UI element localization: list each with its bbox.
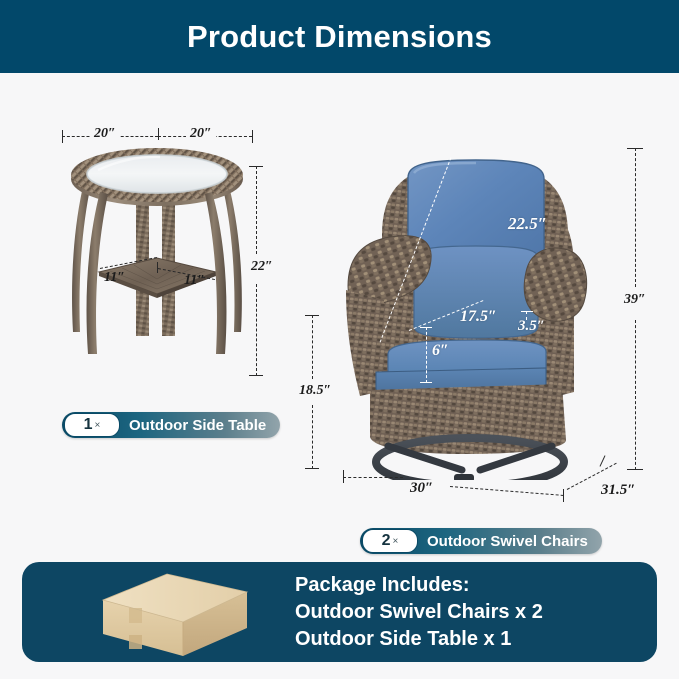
- chair-total-height-dimline-lower: [635, 320, 636, 470]
- table-shelf-tick-center: [157, 262, 158, 273]
- chair-seat-height-dimline-lower: [312, 405, 313, 469]
- package-heading: Package Includes:: [295, 572, 543, 599]
- table-height-dimline-upper: [256, 166, 257, 254]
- table-height-tick-bottom: [249, 375, 263, 376]
- swivel-chair-count: 2: [382, 532, 391, 550]
- chair-total-height-label: 39″: [622, 291, 648, 309]
- chair-seat-cushion-label: 6″: [432, 342, 449, 360]
- chair-arm-thickness-label: 3.5″: [518, 318, 545, 335]
- side-table-count: 1: [84, 416, 93, 434]
- side-table-quantity: 1 ×: [64, 413, 120, 437]
- swivel-chair-badge-label: Outdoor Swivel Chairs: [427, 533, 588, 550]
- chair-depth-label: 31.5″: [601, 482, 636, 499]
- package-line-table: Outdoor Side Table x 1: [295, 626, 543, 653]
- package-includes-text: Package Includes: Outdoor Swivel Chairs …: [295, 572, 543, 653]
- chair-total-height-dimline-upper: [635, 148, 636, 287]
- chair-total-height-tick-bottom: [627, 469, 643, 470]
- chair-width-dimline-b: [450, 486, 564, 496]
- chair-seat-cushion-dimline: [426, 327, 427, 383]
- chair-width-dimline-a: [343, 477, 403, 478]
- multiply-icon: ×: [393, 536, 399, 547]
- side-table-badge-label: Outdoor Side Table: [129, 417, 266, 434]
- chair-seat-height-dimline-upper: [312, 315, 313, 379]
- swivel-chair-badge[interactable]: 2 × Outdoor Swivel Chairs: [360, 528, 602, 554]
- chair-width-tick-right: [563, 489, 564, 502]
- chair-seat-height-label: 18.5″: [297, 382, 333, 400]
- chair-arm-tick: [521, 311, 533, 312]
- multiply-icon: ×: [95, 420, 101, 431]
- side-table-illustration: [58, 146, 258, 376]
- table-height-label: 22″: [248, 258, 276, 276]
- infographic-canvas: Product Dimensions: [0, 0, 679, 679]
- chair-seat-height-tick-bottom: [305, 468, 319, 469]
- side-table-badge[interactable]: 1 × Outdoor Side Table: [62, 412, 280, 438]
- table-top-tick-right: [252, 130, 253, 143]
- cardboard-box-icon: [95, 572, 255, 657]
- chair-seat-cushion-tick-bottom: [420, 382, 432, 383]
- table-top-width-left-label: 20″: [90, 126, 120, 142]
- chair-seat-depth-label: 17.5″: [460, 308, 497, 326]
- swivel-chair-quantity: 2 ×: [362, 529, 418, 553]
- table-top-tick-center: [158, 128, 159, 140]
- package-line-chairs: Outdoor Swivel Chairs x 2: [295, 599, 543, 626]
- table-shelf-left-label: 11″: [104, 270, 125, 286]
- chair-seat-cushion-tick-top: [420, 327, 432, 328]
- header-banner: Product Dimensions: [0, 0, 679, 73]
- chair-width-label: 30″: [410, 480, 433, 497]
- table-top-width-right-label: 20″: [186, 126, 216, 142]
- table-shelf-right-label: 11″: [184, 273, 205, 289]
- page-title: Product Dimensions: [187, 19, 492, 55]
- chair-back-cushion-label: 22.5″: [508, 214, 547, 234]
- table-height-dimline-lower: [256, 284, 257, 376]
